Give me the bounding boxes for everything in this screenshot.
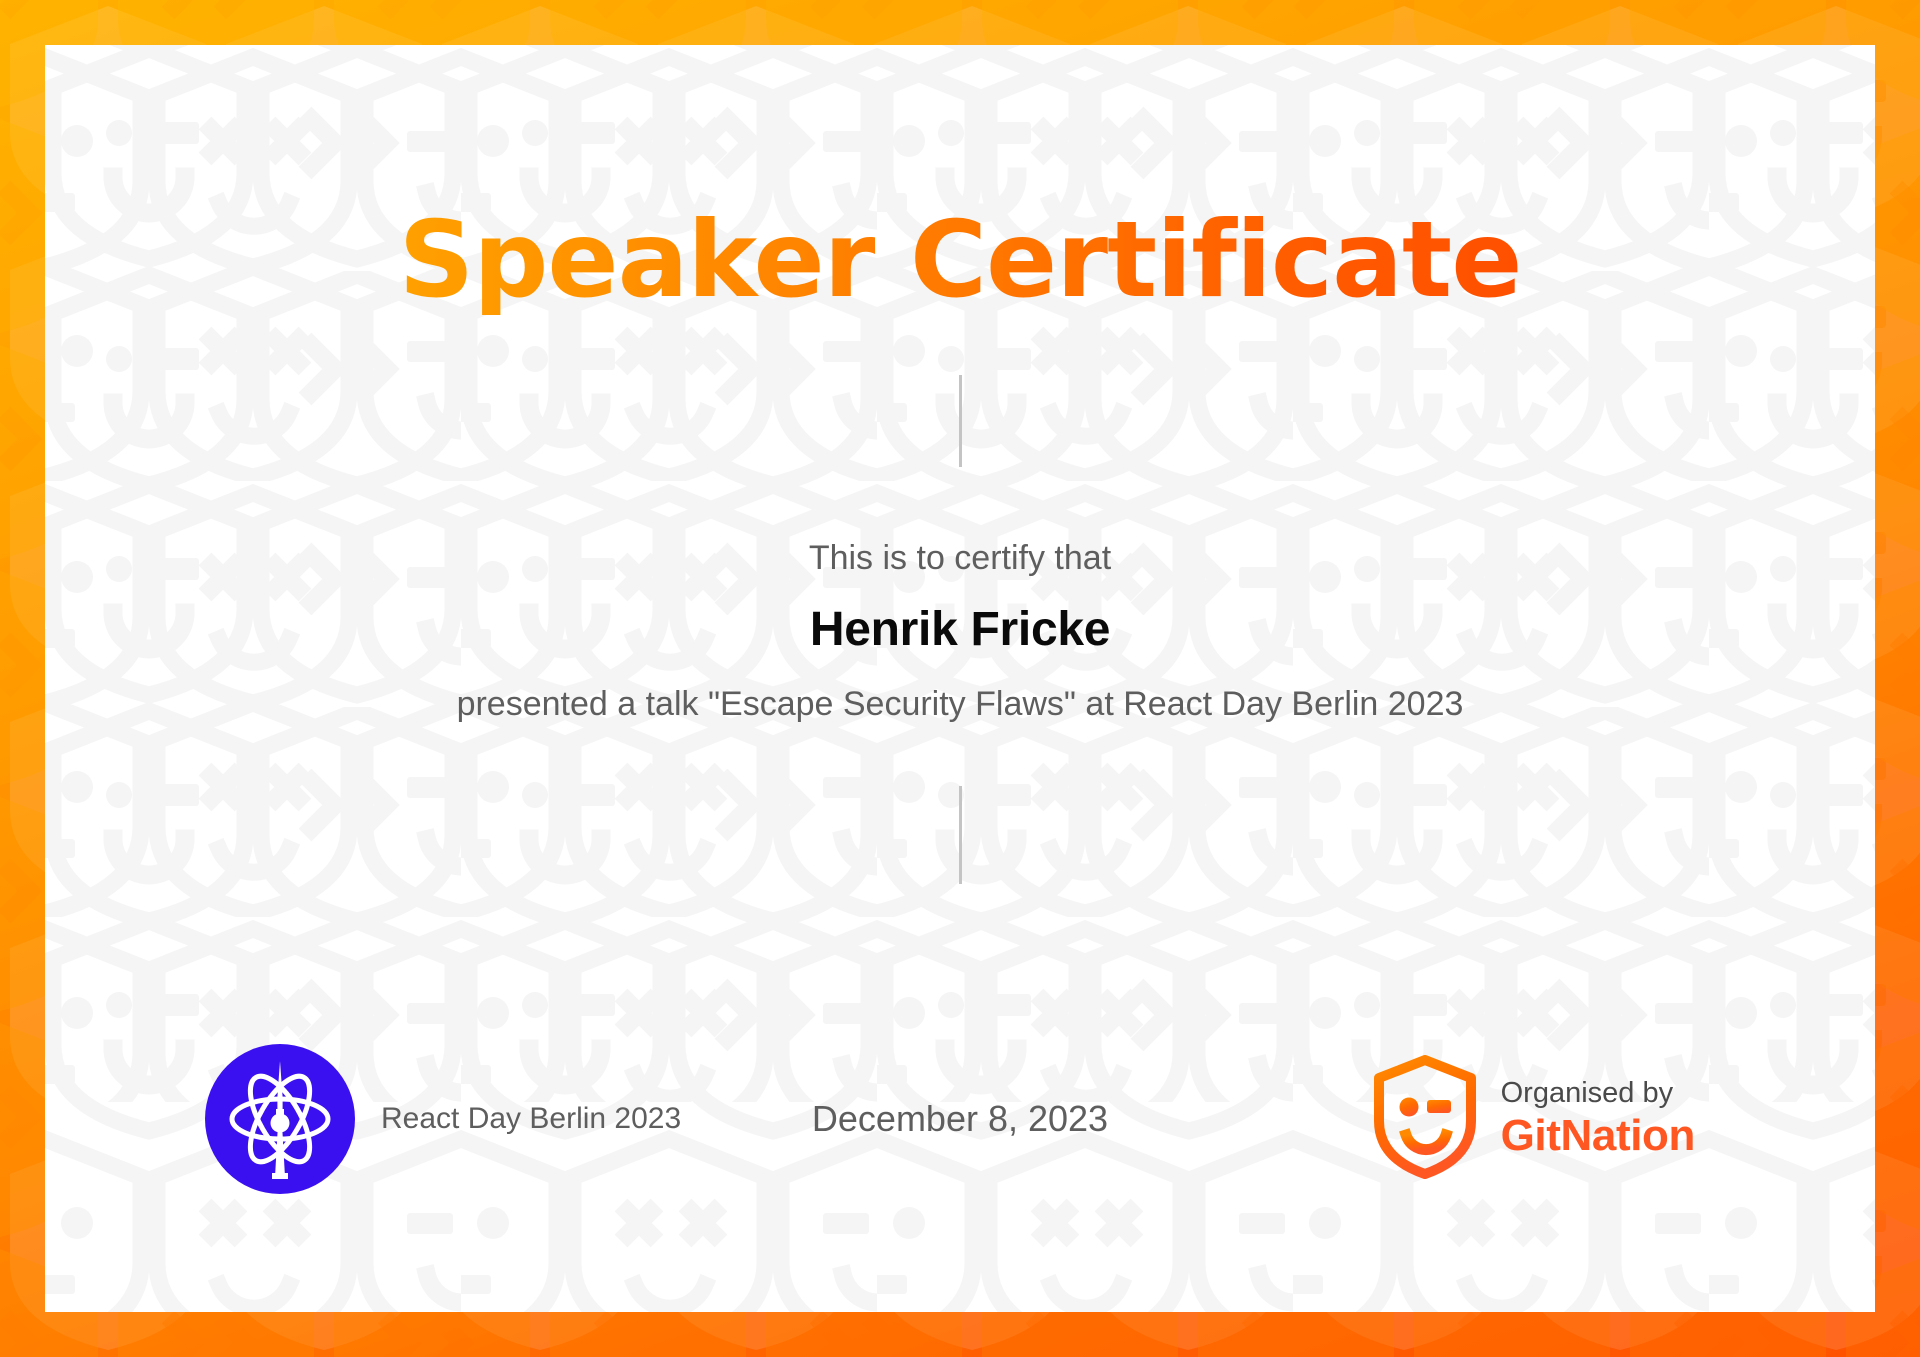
- certificate-date: December 8, 2023: [812, 1098, 1108, 1140]
- organised-by-label: Organised by: [1501, 1076, 1695, 1110]
- recipient-name: Henrik Fricke: [810, 602, 1110, 657]
- organiser-block: Organised by GitNation: [1371, 1055, 1695, 1184]
- certify-line: This is to certify that: [809, 539, 1111, 578]
- event-block: React Day Berlin 2023: [205, 1044, 681, 1194]
- certificate-frame: Speaker Certificate This is to certify t…: [0, 0, 1920, 1357]
- gitnation-shield-face-icon: [1371, 1055, 1479, 1184]
- organiser-name: GitNation: [1501, 1110, 1695, 1162]
- certificate-footer: React Day Berlin 2023 December 8, 2023: [45, 1044, 1875, 1194]
- react-day-berlin-logo-icon: [205, 1044, 355, 1194]
- certificate-card: Speaker Certificate This is to certify t…: [45, 45, 1875, 1312]
- divider-top: [959, 375, 962, 467]
- talk-description: presented a talk "Escape Security Flaws"…: [457, 685, 1464, 724]
- divider-bottom: [959, 786, 962, 884]
- organiser-text: Organised by GitNation: [1501, 1076, 1695, 1162]
- event-name: React Day Berlin 2023: [381, 1102, 681, 1136]
- page-title: Speaker Certificate: [399, 205, 1522, 315]
